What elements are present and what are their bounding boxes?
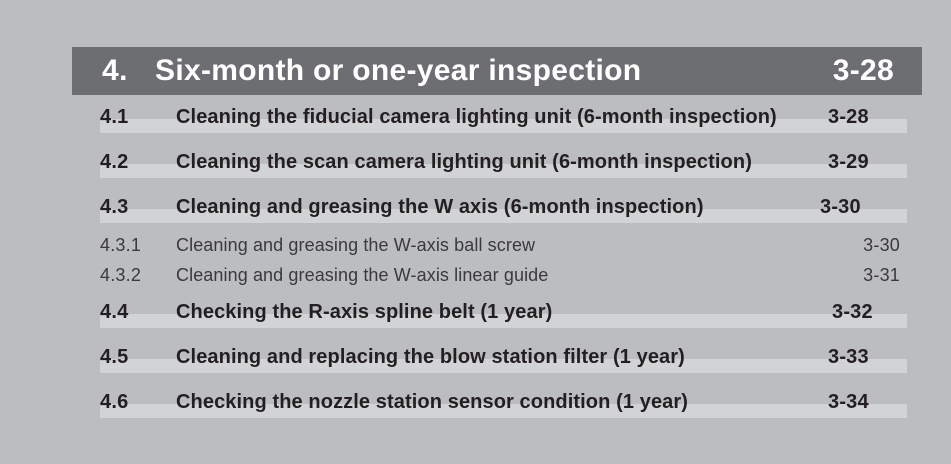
toc-entry[interactable]: 4.2Cleaning the scan camera lighting uni… (0, 140, 951, 185)
toc-entry-label: Cleaning and greasing the W axis (6-mont… (176, 196, 704, 219)
toc-entry[interactable]: 4.5Cleaning and replacing the blow stati… (0, 335, 951, 380)
toc-entry-row[interactable]: 4.3.2Cleaning and greasing the W-axis li… (0, 260, 951, 290)
toc-entry-row[interactable]: 4.3.1Cleaning and greasing the W-axis ba… (0, 230, 951, 260)
chapter-title: Six-month or one-year inspection (155, 54, 641, 88)
toc-entry-row[interactable]: 4.4Checking the R-axis spline belt (1 ye… (0, 290, 951, 335)
toc-entry-number: 4.3 (100, 196, 128, 219)
toc-entry-label: Cleaning the scan camera lighting unit (… (176, 151, 752, 174)
toc-entry-number: 4.3.1 (100, 235, 141, 256)
toc-entry-row[interactable]: 4.6Checking the nozzle station sensor co… (0, 380, 951, 425)
toc-entry-label: Cleaning the fiducial camera lighting un… (176, 106, 777, 129)
toc-entry[interactable]: 4.3Cleaning and greasing the W axis (6-m… (0, 185, 951, 230)
toc-entry-page-number: 3-34 (828, 391, 869, 414)
toc-entry-label: Checking the R-axis spline belt (1 year) (176, 301, 552, 324)
toc-entry[interactable]: 4.6Checking the nozzle station sensor co… (0, 380, 951, 425)
toc-entry-list: 4.1Cleaning the fiducial camera lighting… (0, 95, 951, 425)
toc-entry-row[interactable]: 4.5Cleaning and replacing the blow stati… (0, 335, 951, 380)
toc-entry-page-number: 3-32 (832, 301, 873, 324)
toc-entry-number: 4.1 (100, 106, 128, 129)
toc-entry[interactable]: 4.3.2Cleaning and greasing the W-axis li… (0, 260, 951, 290)
toc-entry-label: Cleaning and greasing the W-axis linear … (176, 265, 548, 286)
chapter-number: 4. (102, 54, 128, 88)
toc-entry[interactable]: 4.3.1Cleaning and greasing the W-axis ba… (0, 230, 951, 260)
toc-entry-page-number: 3-30 (863, 235, 900, 256)
toc-entry-page-number: 3-33 (828, 346, 869, 369)
toc-entry-number: 4.5 (100, 346, 128, 369)
toc-entry[interactable]: 4.4Checking the R-axis spline belt (1 ye… (0, 290, 951, 335)
toc-entry-page-number: 3-30 (820, 196, 861, 219)
toc-page: 4. Six-month or one-year inspection 3-28… (0, 0, 951, 464)
toc-entry-number: 4.2 (100, 151, 128, 174)
toc-entry-number: 4.3.2 (100, 265, 141, 286)
toc-entry-row[interactable]: 4.2Cleaning the scan camera lighting uni… (0, 140, 951, 185)
toc-entry-label: Checking the nozzle station sensor condi… (176, 391, 688, 414)
toc-entry-page-number: 3-28 (828, 106, 869, 129)
toc-entry-row[interactable]: 4.1Cleaning the fiducial camera lighting… (0, 95, 951, 140)
toc-entry-number: 4.4 (100, 301, 128, 324)
toc-entry-page-number: 3-31 (863, 265, 900, 286)
toc-entry-row[interactable]: 4.3Cleaning and greasing the W axis (6-m… (0, 185, 951, 230)
chapter-page-number: 3-28 (833, 54, 904, 88)
toc-entry-label: Cleaning and greasing the W-axis ball sc… (176, 235, 535, 256)
toc-entry-label: Cleaning and replacing the blow station … (176, 346, 685, 369)
toc-entry-number: 4.6 (100, 391, 128, 414)
toc-entry[interactable]: 4.1Cleaning the fiducial camera lighting… (0, 95, 951, 140)
toc-entry-page-number: 3-29 (828, 151, 869, 174)
chapter-header-bar: 4. Six-month or one-year inspection 3-28 (72, 47, 922, 95)
